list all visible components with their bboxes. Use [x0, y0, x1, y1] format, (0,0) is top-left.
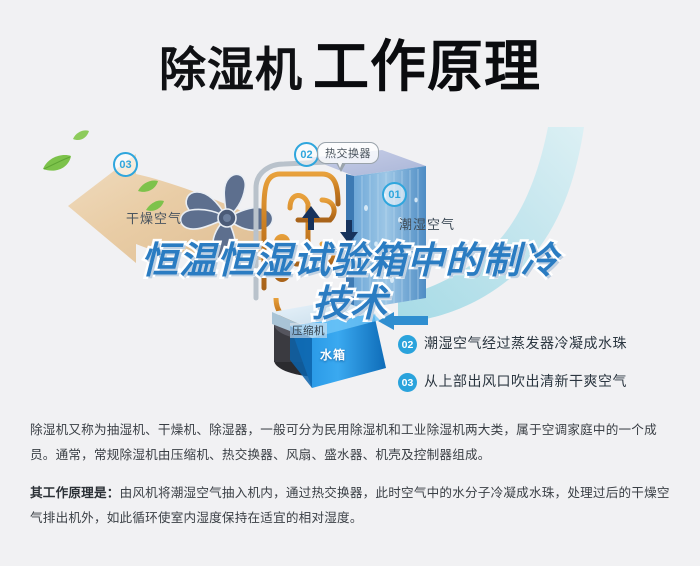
- leaf-icon: [138, 180, 158, 194]
- infographic-page: 除湿机工作原理: [0, 0, 700, 566]
- humid-air-label: 潮湿空气: [399, 214, 455, 233]
- page-title: 除湿机工作原理: [0, 22, 700, 103]
- leaf-icon: [42, 154, 72, 174]
- list-item: 03 从上部出风口吹出清新干爽空气: [398, 372, 698, 392]
- paragraph-1: 除湿机又称为抽湿机、干燥机、除湿器，一般可分为民用除湿机和工业除湿机两大类，属于…: [30, 418, 675, 467]
- diagram-badge-02: 02: [294, 142, 319, 167]
- list-item: 02 潮湿空气经过蒸发器冷凝成水珠: [398, 334, 698, 354]
- article-body: 除湿机又称为抽湿机、干燥机、除湿器，一般可分为民用除湿机和工业除湿机两大类，属于…: [30, 418, 675, 544]
- step-text: 潮湿空气经过蒸发器冷凝成水珠: [424, 334, 627, 353]
- paragraph-2-text: 由风机将潮湿空气抽入机内，通过热交换器，此时空气中的水分子冷凝成水珠，处理过后的…: [30, 486, 670, 525]
- title-part-2: 工作原理: [313, 35, 541, 98]
- water-tank-icon: [268, 298, 393, 390]
- title-part-1: 除湿机: [159, 43, 303, 96]
- leaf-icon: [73, 130, 89, 142]
- paragraph-2: 其工作原理是：由风机将潮湿空气抽入机内，通过热交换器，此时空气中的水分子冷凝成水…: [30, 481, 675, 530]
- dry-air-label: 干燥空气: [126, 208, 182, 227]
- diagram-badge-01: 01: [382, 182, 407, 207]
- step-list: 01 由风机将潮湿空气抽入机内 02 潮湿空气经过蒸发器冷凝成水珠 03 从上部…: [398, 296, 698, 410]
- step-number: 02: [398, 335, 417, 354]
- diagram-badge-03: 03: [113, 152, 138, 177]
- heat-exchanger-callout: 热交换器: [317, 142, 379, 164]
- step-text: 从上部出风口吹出清新干爽空气: [424, 372, 627, 391]
- step-number: 03: [398, 373, 417, 392]
- paragraph-2-lead: 其工作原理是：: [30, 486, 120, 500]
